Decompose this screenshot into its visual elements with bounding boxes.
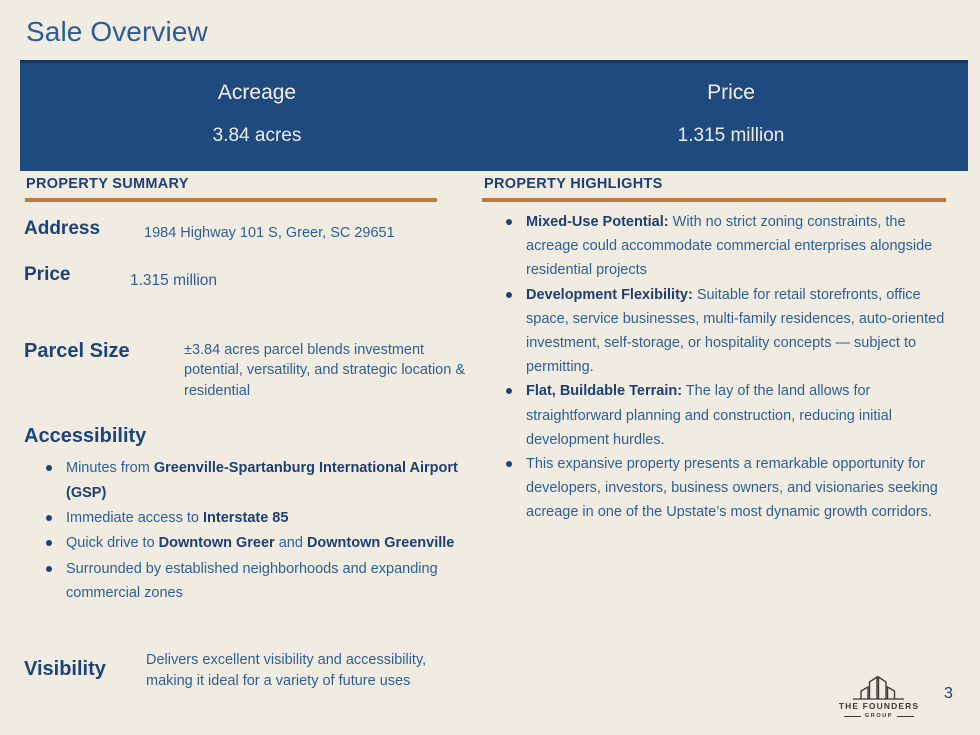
logo-name: THE FOUNDERS [836,701,922,711]
list-item-emphasis: Downtown Greer [159,535,275,551]
list-item: Minutes from Greenville-Spartanburg Inte… [24,456,474,505]
list-item-emphasis: Interstate 85 [203,510,288,526]
stat-price-label: Price [494,81,976,105]
list-item: Development Flexibility: Suitable for re… [482,283,948,380]
summary-value-price: 1.315 million [130,264,217,292]
founders-group-logo: THE FOUNDERS GROUP [836,674,922,719]
list-item: Immediate access to Interstate 85 [24,506,474,530]
summary-label-parcel-size: Parcel Size [24,340,184,363]
page-title: Sale Overview [26,16,208,48]
list-item-text: Quick drive to [66,535,159,551]
list-item-emphasis: Downtown Greenville [307,535,454,551]
summary-label-address: Address [24,218,144,240]
list-item-text: Immediate access to [66,510,203,526]
list-item-text: Surrounded by established neighborhoods … [66,561,438,601]
list-item-emphasis: Development Flexibility: [526,287,693,303]
property-highlights-bullet-list: Mixed-Use Potential: With no strict zoni… [482,210,948,525]
summary-row-parcel-size: Parcel Size ±3.84 acres parcel blends in… [24,340,474,402]
logo-sub-text: GROUP [865,713,893,719]
building-skyline-icon [836,674,922,700]
list-item: This expansive property presents a remar… [482,452,948,525]
summary-row-price: Price 1.315 million [24,264,474,292]
key-stats-banner: Acreage 3.84 acres Price 1.315 million [20,60,968,171]
list-item-text: Minutes from [66,460,154,476]
list-item: Flat, Buildable Terrain: The lay of the … [482,379,948,452]
property-summary-column: PROPERTY SUMMARY Address 1984 Highway 10… [24,176,474,606]
page-number: 3 [944,685,953,703]
list-item-emphasis: Mixed-Use Potential: [526,214,669,230]
summary-row-visibility: Visibility Delivers excellent visibility… [24,650,474,691]
property-summary-rule [25,198,437,202]
logo-dash-left [844,716,861,717]
logo-subtitle: GROUP [836,713,922,719]
property-highlights-column: PROPERTY HIGHLIGHTS Mixed-Use Potential:… [482,176,948,525]
summary-value-address: 1984 Highway 101 S, Greer, SC 29651 [144,218,395,244]
summary-label-visibility: Visibility [24,650,146,681]
property-highlights-rule [482,198,946,202]
list-item: Quick drive to Downtown Greer and Downto… [24,531,474,555]
accessibility-bullet-list: Minutes from Greenville-Spartanburg Inte… [24,456,474,605]
summary-row-address: Address 1984 Highway 101 S, Greer, SC 29… [24,218,474,244]
accessibility-heading: Accessibility [24,425,474,448]
summary-value-visibility: Delivers excellent visibility and access… [146,650,466,691]
list-item: Mixed-Use Potential: With no strict zoni… [482,210,948,283]
list-item-emphasis: Flat, Buildable Terrain: [526,383,682,399]
stat-price-value: 1.315 million [494,125,976,147]
list-item: Surrounded by established neighborhoods … [24,557,474,606]
stat-acreage-label: Acreage [20,81,498,105]
property-summary-heading: PROPERTY SUMMARY [26,176,474,192]
stat-acreage-value: 3.84 acres [20,125,546,147]
property-highlights-heading: PROPERTY HIGHLIGHTS [484,176,948,192]
stat-price: Price 1.315 million [494,63,968,171]
list-item-text: and [275,535,307,551]
list-item-text: This expansive property presents a remar… [526,456,938,520]
summary-label-price: Price [24,264,130,286]
logo-dash-right [897,716,914,717]
summary-value-parcel-size: ±3.84 acres parcel blends investment pot… [184,340,474,402]
stat-acreage: Acreage 3.84 acres [20,63,494,171]
